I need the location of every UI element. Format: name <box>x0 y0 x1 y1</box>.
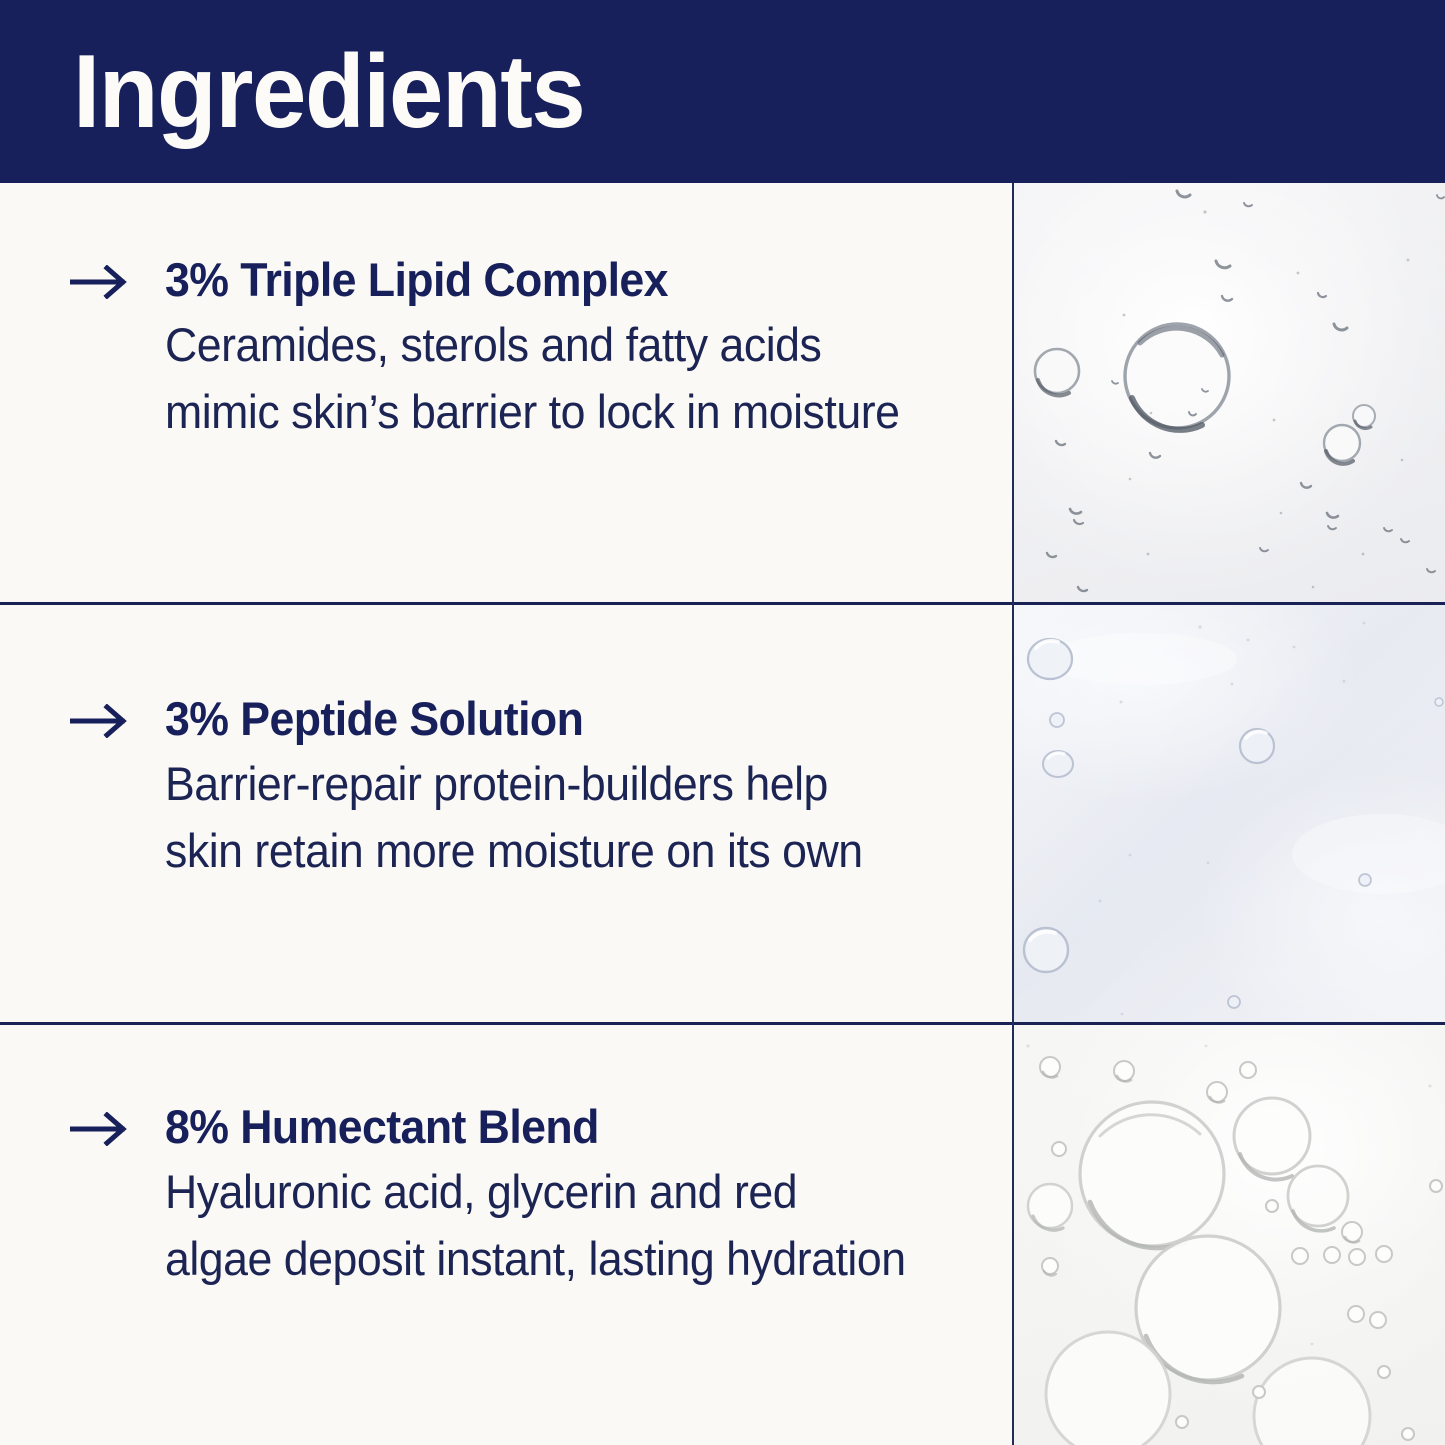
ingredient-text-column-1: 3% Triple Lipid Complex Ceramides, stero… <box>0 183 1012 604</box>
ingredient-title-3: 8% Humectant Blend <box>165 1102 932 1152</box>
bubble-texture-3 <box>1012 1024 1445 1445</box>
ingredient-title-2: 3% Peptide Solution <box>165 694 932 744</box>
arrow-right-icon <box>70 265 130 299</box>
ingredient-description-1: Ceramides, sterols and fatty acids mimic… <box>165 312 916 445</box>
bubble-texture-2 <box>1012 604 1445 1024</box>
ingredient-row-3: 8% Humectant Blend Hyaluronic acid, glyc… <box>0 1024 1445 1445</box>
ingredient-text-2: 3% Peptide Solution Barrier-repair prote… <box>165 694 972 885</box>
ingredients-infographic: Ingredients 3% Triple Lipid Complex Cera… <box>0 0 1445 1445</box>
ingredient-image-1 <box>1012 183 1445 604</box>
ingredient-text-3: 8% Humectant Blend Hyaluronic acid, glyc… <box>165 1102 972 1293</box>
ingredient-image-2 <box>1012 604 1445 1024</box>
ingredient-description-3: Hyaluronic acid, glycerin and red algae … <box>165 1159 916 1292</box>
page-title: Ingredients <box>73 40 584 144</box>
row-divider-2 <box>0 1022 1445 1025</box>
arrow-right-icon <box>70 704 130 738</box>
row-divider-1 <box>0 602 1445 605</box>
ingredient-image-3 <box>1012 1024 1445 1445</box>
ingredients-list: 3% Triple Lipid Complex Ceramides, stero… <box>0 183 1445 1445</box>
ingredient-text-1: 3% Triple Lipid Complex Ceramides, stero… <box>165 255 972 446</box>
ingredient-text-column-2: 3% Peptide Solution Barrier-repair prote… <box>0 604 1012 1024</box>
ingredient-row-1: 3% Triple Lipid Complex Ceramides, stero… <box>0 183 1445 604</box>
column-divider <box>1012 183 1014 1445</box>
ingredient-text-column-3: 8% Humectant Blend Hyaluronic acid, glyc… <box>0 1024 1012 1445</box>
ingredient-description-2: Barrier-repair protein-builders help ski… <box>165 751 916 884</box>
ingredient-title-1: 3% Triple Lipid Complex <box>165 255 932 305</box>
header-banner: Ingredients <box>0 0 1445 183</box>
ingredient-row-2: 3% Peptide Solution Barrier-repair prote… <box>0 604 1445 1024</box>
arrow-right-icon <box>70 1112 130 1146</box>
bubble-texture-1 <box>1012 183 1445 604</box>
